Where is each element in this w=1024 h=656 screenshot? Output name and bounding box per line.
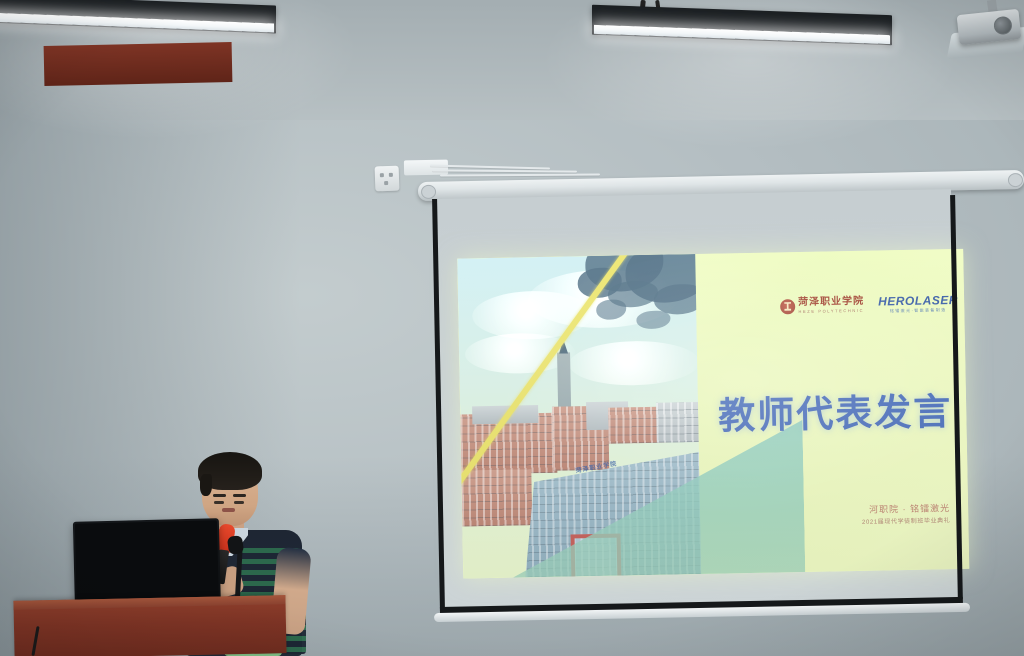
slide-footer-line-2: 2021届现代学徒制班毕业典礼: [862, 515, 951, 526]
screen-canvas: 菏泽职业学院 菏泽职业学院 HEZE POLYTECHNIC HEROLASER: [436, 189, 959, 611]
presenter-hair: [198, 452, 262, 490]
partner-name: HEROLASER: [878, 293, 958, 309]
presenter-mouth: [222, 508, 235, 512]
projection-screen[interactable]: 菏泽职业学院 菏泽职业学院 HEZE POLYTECHNIC HEROLASER: [420, 185, 974, 617]
podium: [13, 595, 286, 656]
school-logo: 菏泽职业学院 HEZE POLYTECHNIC: [780, 297, 864, 314]
wall-socket[interactable]: [375, 166, 400, 192]
podium-microphone-head[interactable]: [227, 535, 244, 555]
screen-control-box[interactable]: [404, 160, 448, 176]
projected-slide: 菏泽职业学院 菏泽职业学院 HEZE POLYTECHNIC HEROLASER: [457, 249, 969, 579]
housing-end-cap-right: [1008, 173, 1023, 187]
slide-logo-row: 菏泽职业学院 HEZE POLYTECHNIC HEROLASER 铭镭激光·智…: [780, 293, 958, 316]
school-name-en: HEZE POLYTECHNIC: [798, 308, 864, 314]
projector-lens-icon: [993, 16, 1013, 36]
partner-logo: HEROLASER 铭镭激光·智能装备制造: [878, 293, 958, 315]
slide-title: 教师代表发言: [718, 381, 953, 439]
podium-base: [44, 42, 233, 86]
slide-footer-line-1: 河职院 · 铭镭激光: [869, 501, 950, 516]
school-emblem-icon: [780, 299, 795, 314]
classroom-scene: 菏泽职业学院 菏泽职业学院 HEZE POLYTECHNIC HEROLASER: [0, 0, 1024, 656]
